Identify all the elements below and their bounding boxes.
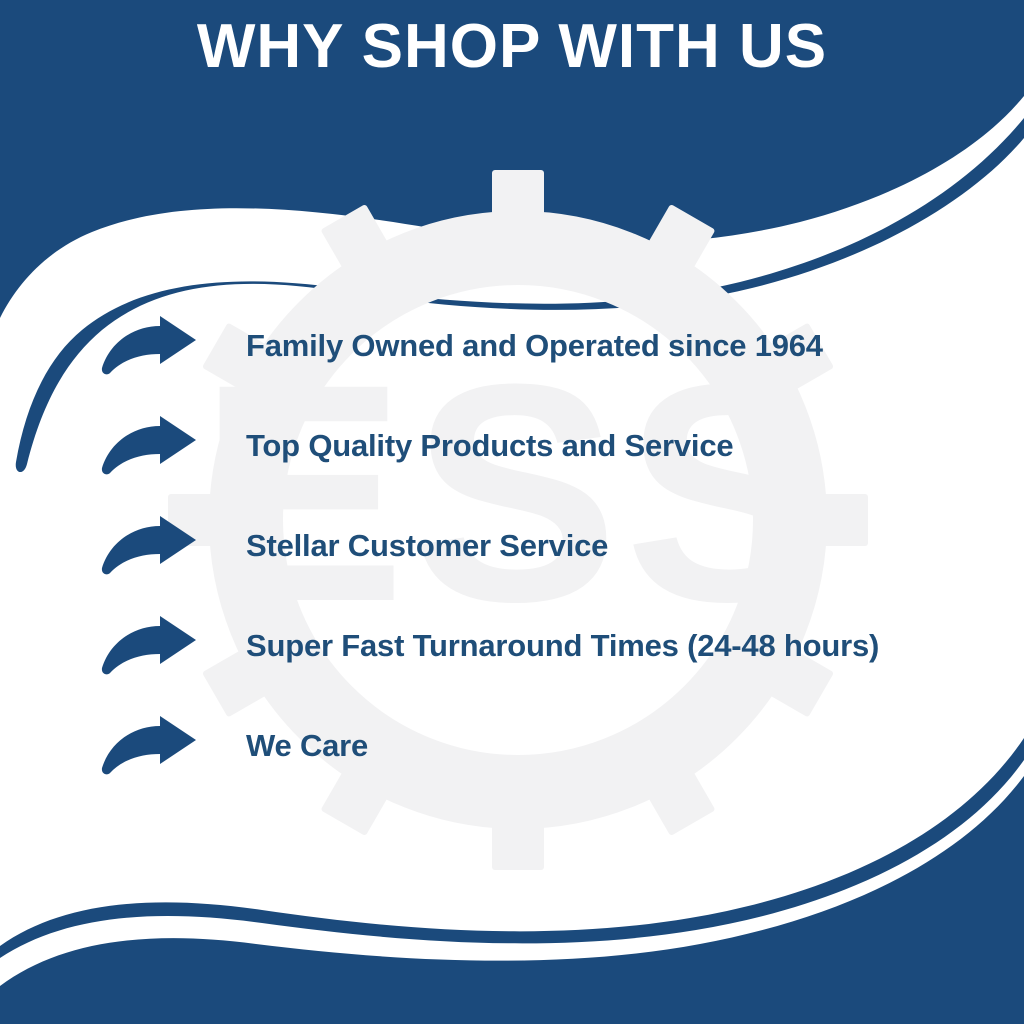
benefit-label: Stellar Customer Service (246, 529, 980, 563)
benefit-label: Super Fast Turnaround Times (24-48 hours… (246, 629, 980, 663)
curved-arrow-right-icon (100, 616, 198, 676)
benefit-item: We Care (100, 696, 980, 796)
poster-canvas: ESS WHY SHOP WITH US Family Owned and Op… (0, 0, 1024, 1024)
benefit-item: Family Owned and Operated since 1964 (100, 296, 980, 396)
benefit-item: Stellar Customer Service (100, 496, 980, 596)
benefit-label: Top Quality Products and Service (246, 429, 980, 463)
benefits-list: Family Owned and Operated since 1964 Top… (100, 296, 980, 796)
curved-arrow-right-icon (100, 716, 198, 776)
curved-arrow-right-icon (100, 516, 198, 576)
curved-arrow-right-icon (100, 416, 198, 476)
curved-arrow-right-icon (100, 316, 198, 376)
page-title: WHY SHOP WITH US (0, 16, 1024, 78)
benefit-label: Family Owned and Operated since 1964 (246, 329, 980, 363)
benefit-item: Super Fast Turnaround Times (24-48 hours… (100, 596, 980, 696)
benefit-item: Top Quality Products and Service (100, 396, 980, 496)
benefit-label: We Care (246, 729, 980, 763)
